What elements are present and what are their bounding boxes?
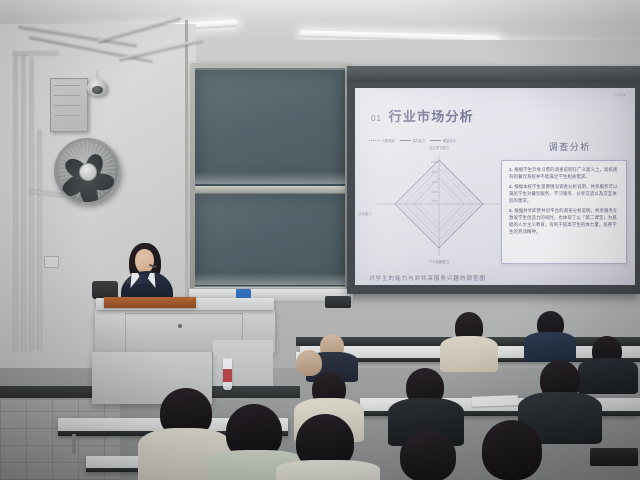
bottle-cap <box>225 354 230 359</box>
blackboard <box>190 63 350 295</box>
electrical-panel <box>50 78 88 132</box>
slide-title-text: 行业市场分析 <box>389 106 474 125</box>
svg-text:40%: 40% <box>432 190 438 194</box>
analysis-point: 1. 根据学生饮食习惯的调查说明在广义意义上，高校现有的餐饮系统并不能满足学生相… <box>509 167 619 181</box>
analysis-point-text: 根据本校学生意愿情况调查分析说明，共享服务可以满足学生对餐饮服务、学习服务、分享… <box>509 184 618 203</box>
conduit-pipe <box>22 55 25 351</box>
security-camera-icon <box>87 79 108 96</box>
slide-subtitle: 调查分析 <box>549 140 591 153</box>
conduit-pipe <box>38 130 41 350</box>
audience-head <box>296 350 322 376</box>
audience-torso <box>440 336 498 372</box>
audience-torso <box>276 460 380 480</box>
blackboard-sticker <box>236 289 251 298</box>
ceiling-slab <box>0 0 640 20</box>
handout-paper <box>472 395 518 407</box>
analysis-point-text: 根据共享即梦共创平台的调查分析说明，共享服务在激发学生创造力的同时，也体现了以「… <box>509 208 618 233</box>
analysis-text-card: 1. 根据学生饮食习惯的调查说明在广义意义上，高校现有的餐饮系统并不能满足学生相… <box>501 160 627 264</box>
water-bottle <box>223 358 232 390</box>
svg-text:100%: 100% <box>431 160 439 164</box>
classroom-photo: iSlide 01 行业市场分析 调查分析 兴趣程度 实际能力 <box>0 0 640 480</box>
audience-head <box>482 420 542 480</box>
blackboard-surface <box>195 68 345 290</box>
presentation-slide: iSlide 01 行业市场分析 调查分析 兴趣程度 实际能力 <box>355 88 635 285</box>
conduit-pipe <box>14 52 17 352</box>
wall-fan <box>54 138 120 204</box>
svg-text:80%: 80% <box>432 170 438 174</box>
slide-caption: 对学生的能力与对共享服务兴趣的调查图 <box>369 274 486 282</box>
analysis-point: 2. 根据本校学生意愿情况调查分析说明，共享服务可以满足学生对餐饮服务、学习服务… <box>509 184 619 204</box>
presenter-highlight <box>123 274 171 284</box>
slide-section-number: 01 <box>371 113 382 123</box>
power-outlet <box>44 256 59 268</box>
podium-side-cabinet <box>213 340 273 386</box>
presenter <box>113 243 179 305</box>
analysis-point-text: 根据学生饮食习惯的调查说明在广义意义上，高校现有的餐饮系统并不能满足学生相关需求… <box>509 167 618 179</box>
radar-chart-svg: 100% 80% 60% 40% 20% <box>365 138 513 263</box>
laptop-bag <box>590 448 638 466</box>
blackboard-divider-rail <box>195 186 345 193</box>
podium-wood-trim <box>104 297 196 308</box>
svg-text:60%: 60% <box>432 180 438 184</box>
fan-hub <box>79 163 97 181</box>
radar-chart: 兴趣程度 实际能力 期望水平 自主学习能力 社会交往能力 个人创新能力 动手能力 <box>365 138 513 263</box>
analysis-point-number: 3. <box>509 208 513 213</box>
svg-text:20%: 20% <box>432 199 438 203</box>
blackboard-panel-upper <box>195 70 345 186</box>
analysis-point-number: 2. <box>509 184 513 189</box>
bottle-label <box>223 369 232 382</box>
chalk-dust <box>195 172 345 184</box>
audience-torso <box>524 332 576 362</box>
chalk-dust <box>195 273 345 285</box>
podium-latch <box>178 324 182 328</box>
audience-torso <box>578 358 638 394</box>
equipment-box <box>325 296 351 308</box>
slide-watermark: iSlide <box>615 93 626 97</box>
audience-head <box>400 430 456 480</box>
slide-title: 01 行业市场分析 <box>371 106 474 125</box>
radar-series-actual <box>395 160 483 248</box>
desk-leg <box>72 434 76 454</box>
conduit-pipe <box>14 52 58 55</box>
analysis-point-number: 1. <box>509 167 513 172</box>
analysis-point: 3. 根据共享即梦共创平台的调查分析说明，共享服务在激发学生创造力的同时，也体现… <box>509 208 619 235</box>
conduit-pipe <box>30 58 33 350</box>
projection-screen: iSlide 01 行业市场分析 调查分析 兴趣程度 实际能力 <box>347 82 640 294</box>
